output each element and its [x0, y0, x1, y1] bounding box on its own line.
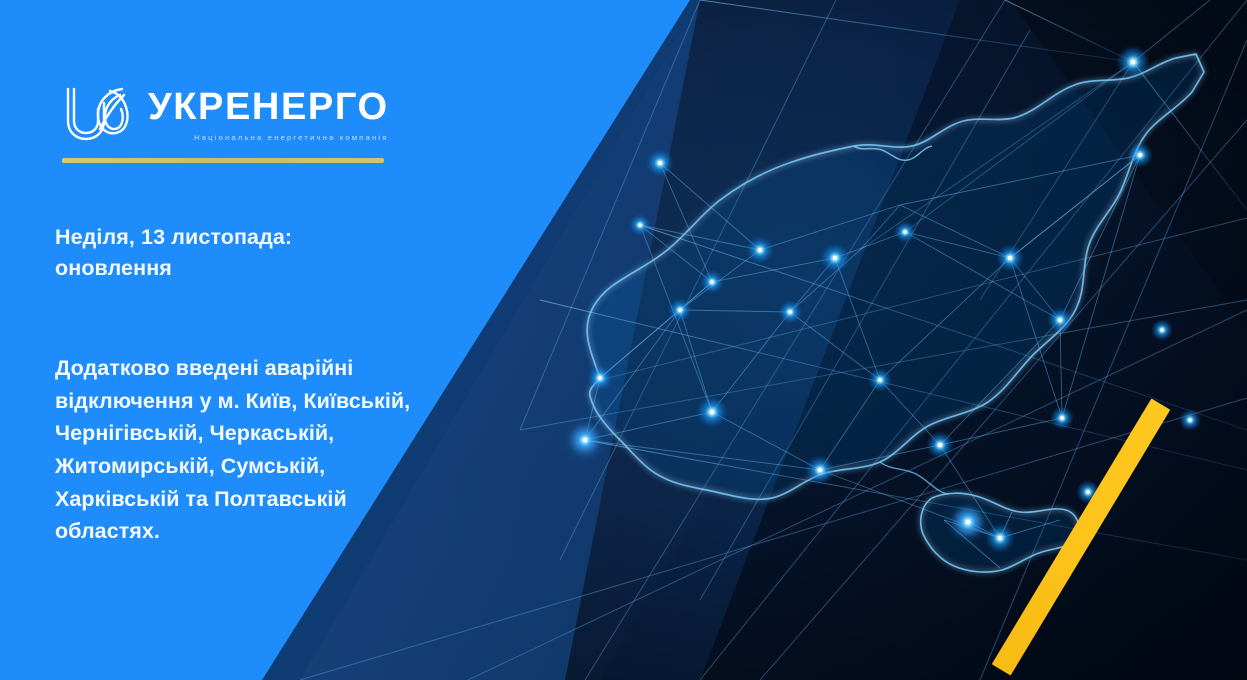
brand-lockup: УКРЕНЕРГО Національна енергетична компан… — [60, 80, 400, 163]
ukrenergo-logo-icon — [60, 83, 134, 145]
brand-name: УКРЕНЕРГО — [148, 88, 389, 126]
body-text: Додатково введені аварійні відключення у… — [55, 352, 415, 548]
content-column: УКРЕНЕРГО Національна енергетична компан… — [0, 0, 470, 680]
headline-text: Неділя, 13 листопада: оновлення — [55, 222, 385, 283]
brand-row: УКРЕНЕРГО Національна енергетична компан… — [60, 80, 400, 148]
announcement-poster: УКРЕНЕРГО Національна енергетична компан… — [0, 0, 1247, 680]
brand-tagline: Національна енергетична компанія — [148, 134, 389, 142]
brand-divider — [62, 158, 384, 163]
brand-texts: УКРЕНЕРГО Національна енергетична компан… — [148, 86, 389, 142]
